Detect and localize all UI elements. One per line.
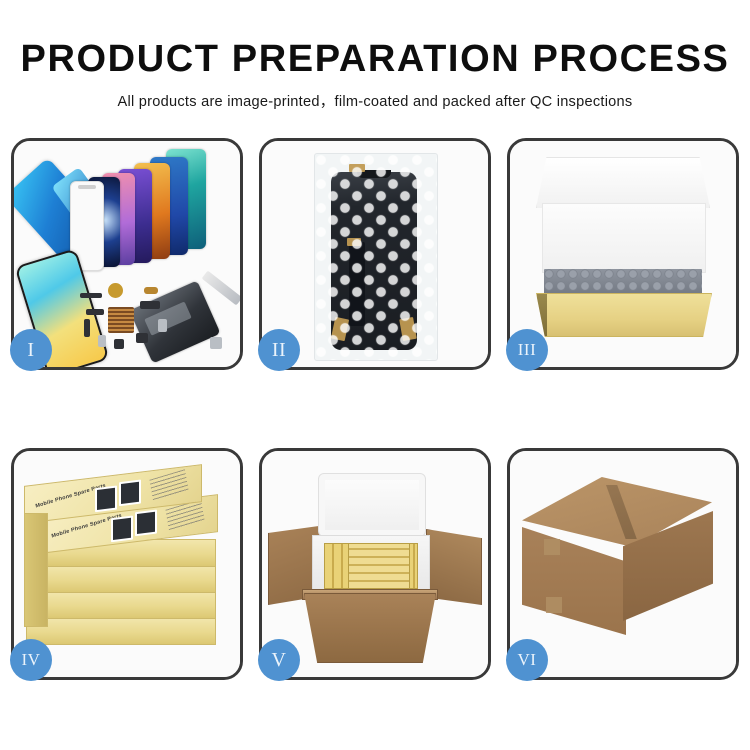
speaker-part-icon	[108, 283, 123, 298]
process-step-4: Mobile Phone Spare Parts Mobile Phone Sp…	[11, 448, 243, 680]
bubble-wrap-bag-icon	[314, 153, 438, 361]
flex-cable-2-icon	[84, 319, 90, 337]
page-title: PRODUCT PREPARATION PROCESS	[0, 38, 750, 80]
process-step-1: I	[11, 138, 243, 370]
box-window-left-2	[111, 516, 133, 543]
box-lid-icon	[536, 157, 710, 208]
sim-tray-icon	[158, 319, 167, 332]
phone-screen-fan	[88, 147, 238, 269]
carton-body-icon	[304, 593, 436, 663]
step-4-image: Mobile Phone Spare Parts Mobile Phone Sp…	[14, 451, 240, 677]
box-layer-6	[26, 617, 216, 645]
tweezers-icon	[202, 271, 240, 306]
shield-part-icon	[140, 301, 160, 309]
connector-part-icon	[80, 293, 102, 298]
process-step-3: III	[507, 138, 739, 370]
foam-lid-icon	[318, 473, 426, 537]
foam-sheet-icon	[542, 203, 706, 273]
box-window-right-1	[119, 480, 141, 507]
step-6-badge: VI	[506, 639, 548, 681]
logic-board-icon	[129, 280, 220, 363]
screws-icon	[210, 337, 222, 349]
step-6-image	[510, 451, 736, 677]
process-step-6: VI	[507, 448, 739, 680]
bubble-texture	[315, 154, 437, 360]
process-step-5: V	[259, 448, 491, 680]
box-feature-list-1	[149, 469, 188, 501]
battery-part-icon	[98, 335, 106, 347]
process-step-grid: I II III	[11, 138, 739, 680]
carton-tape-upper-icon	[544, 539, 560, 555]
process-step-2: II	[259, 138, 491, 370]
yellow-box-base-icon	[536, 293, 712, 337]
box-layer-5	[26, 591, 216, 619]
step-5-badge: V	[258, 639, 300, 681]
page-header: PRODUCT PREPARATION PROCESS All products…	[0, 0, 750, 111]
carton-front-face-icon	[522, 527, 626, 635]
step-2-badge: II	[258, 329, 300, 371]
box-stack-left-edge	[24, 513, 48, 627]
flex-cable-icon	[86, 309, 104, 315]
screw-tray-icon	[108, 307, 134, 333]
step-4-badge: IV	[10, 639, 52, 681]
inner-boxes-right-icon	[348, 543, 410, 589]
step-5-image	[262, 451, 488, 677]
small-part-icon	[114, 339, 124, 349]
box-stack-icon: Mobile Phone Spare Parts Mobile Phone Sp…	[22, 469, 228, 665]
box-layer-4	[26, 565, 216, 593]
step-1-badge: I	[10, 329, 52, 371]
vibrator-part-icon	[136, 333, 148, 343]
step-3-badge: III	[506, 329, 548, 371]
box-window-right-2	[135, 510, 157, 537]
step-2-image	[262, 141, 488, 367]
box-window-left-1	[95, 486, 117, 513]
page-subtitle: All products are image-printed，film-coat…	[0, 90, 750, 111]
camera-part-icon	[144, 287, 158, 294]
step-1-image	[14, 141, 240, 367]
carton-tape-lower-icon	[546, 597, 562, 613]
step-3-image	[510, 141, 736, 367]
